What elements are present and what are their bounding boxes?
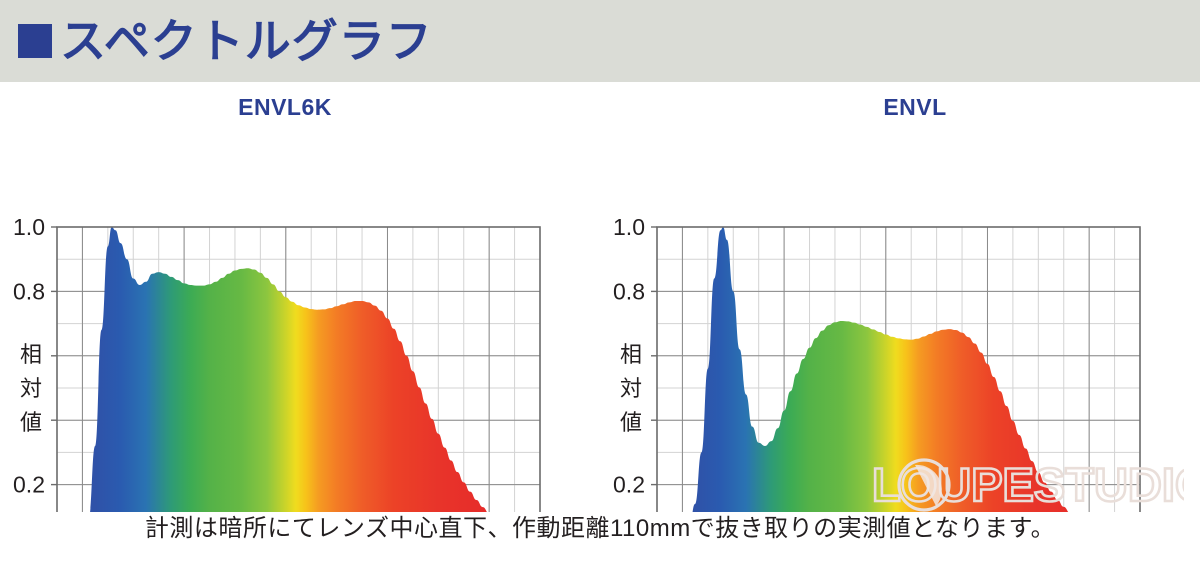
y-tick-label: 0.2 <box>613 472 645 498</box>
y-tick-label: 0.8 <box>613 278 645 304</box>
page-header: スペクトルグラフ <box>0 0 1200 82</box>
chart-envl: ENVL 1.00.80.20420500580660740波長相対値 <box>600 82 1200 512</box>
y-tick-label: 1.0 <box>613 214 645 240</box>
y-axis-label-char: 値 <box>20 410 42 435</box>
spectrum-plot-right: 1.00.80.20420500580660740波長相対値 <box>600 82 1200 512</box>
chart-envl6k: ENVL6K 1.00.80.20420500580660740波長相対値 <box>0 82 600 512</box>
y-tick-label: 0.8 <box>13 278 45 304</box>
y-tick-label: 1.0 <box>13 214 45 240</box>
y-axis-label-char: 相 <box>620 342 642 367</box>
y-axis-label-char: 値 <box>620 410 642 435</box>
spectrum-plot-left: 1.00.80.20420500580660740波長相対値 <box>0 82 600 512</box>
y-axis-label-char: 対 <box>20 376 42 401</box>
y-tick-label: 0.2 <box>13 472 45 498</box>
y-axis-label-char: 相 <box>20 342 42 367</box>
header-inner: スペクトルグラフ <box>18 18 433 64</box>
y-axis-label-char: 対 <box>620 376 642 401</box>
measurement-caption: 計測は暗所にてレンズ中心直下、作動距離110mmで抜き取りの実測値となります。 <box>0 508 1200 543</box>
filled-square-icon <box>18 24 52 58</box>
charts-row: ENVL6K 1.00.80.20420500580660740波長相対値 EN… <box>0 82 1200 512</box>
page-title: スペクトルグラフ <box>60 18 433 64</box>
